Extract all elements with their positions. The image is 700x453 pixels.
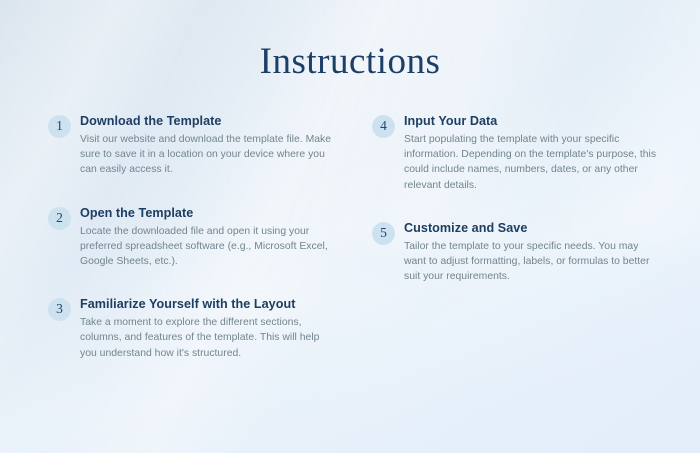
step-title: Customize and Save [404,220,668,236]
step-body: Open the Template Locate the downloaded … [80,205,358,270]
step-title: Open the Template [80,205,358,221]
step-item: 5 Customize and Save Tailor the template… [372,220,668,285]
step-number-badge: 5 [372,222,395,245]
steps-column-right: 4 Input Your Data Start populating the t… [358,113,668,388]
step-number: 5 [380,226,387,241]
steps-column-left: 1 Download the Template Visit our websit… [48,113,358,388]
page-title: Instructions [0,40,700,84]
step-item: 3 Familiarize Yourself with the Layout T… [48,296,358,361]
step-title: Input Your Data [404,113,668,129]
step-number: 4 [380,119,387,134]
step-description: Visit our website and download the templ… [80,132,332,178]
step-item: 4 Input Your Data Start populating the t… [372,113,668,193]
step-title: Download the Template [80,113,358,129]
step-item: 2 Open the Template Locate the downloade… [48,205,358,270]
step-item: 1 Download the Template Visit our websit… [48,113,358,178]
step-number-badge: 2 [48,207,71,230]
step-body: Download the Template Visit our website … [80,113,358,178]
step-description: Tailor the template to your specific nee… [404,239,662,285]
page-content: Instructions 1 Download the Template Vis… [0,0,700,453]
step-body: Familiarize Yourself with the Layout Tak… [80,296,358,361]
step-number: 2 [56,211,63,226]
steps-columns: 1 Download the Template Visit our websit… [48,113,668,388]
step-number-badge: 3 [48,298,71,321]
step-description: Locate the downloaded file and open it u… [80,224,332,270]
step-number-badge: 1 [48,115,71,138]
step-number: 3 [56,302,63,317]
step-title: Familiarize Yourself with the Layout [80,296,358,312]
step-number-badge: 4 [372,115,395,138]
step-description: Start populating the template with your … [404,132,662,193]
step-body: Customize and Save Tailor the template t… [404,220,668,285]
step-description: Take a moment to explore the different s… [80,315,332,361]
instructions-page: Instructions 1 Download the Template Vis… [0,0,700,453]
step-body: Input Your Data Start populating the tem… [404,113,668,193]
step-number: 1 [56,119,63,134]
